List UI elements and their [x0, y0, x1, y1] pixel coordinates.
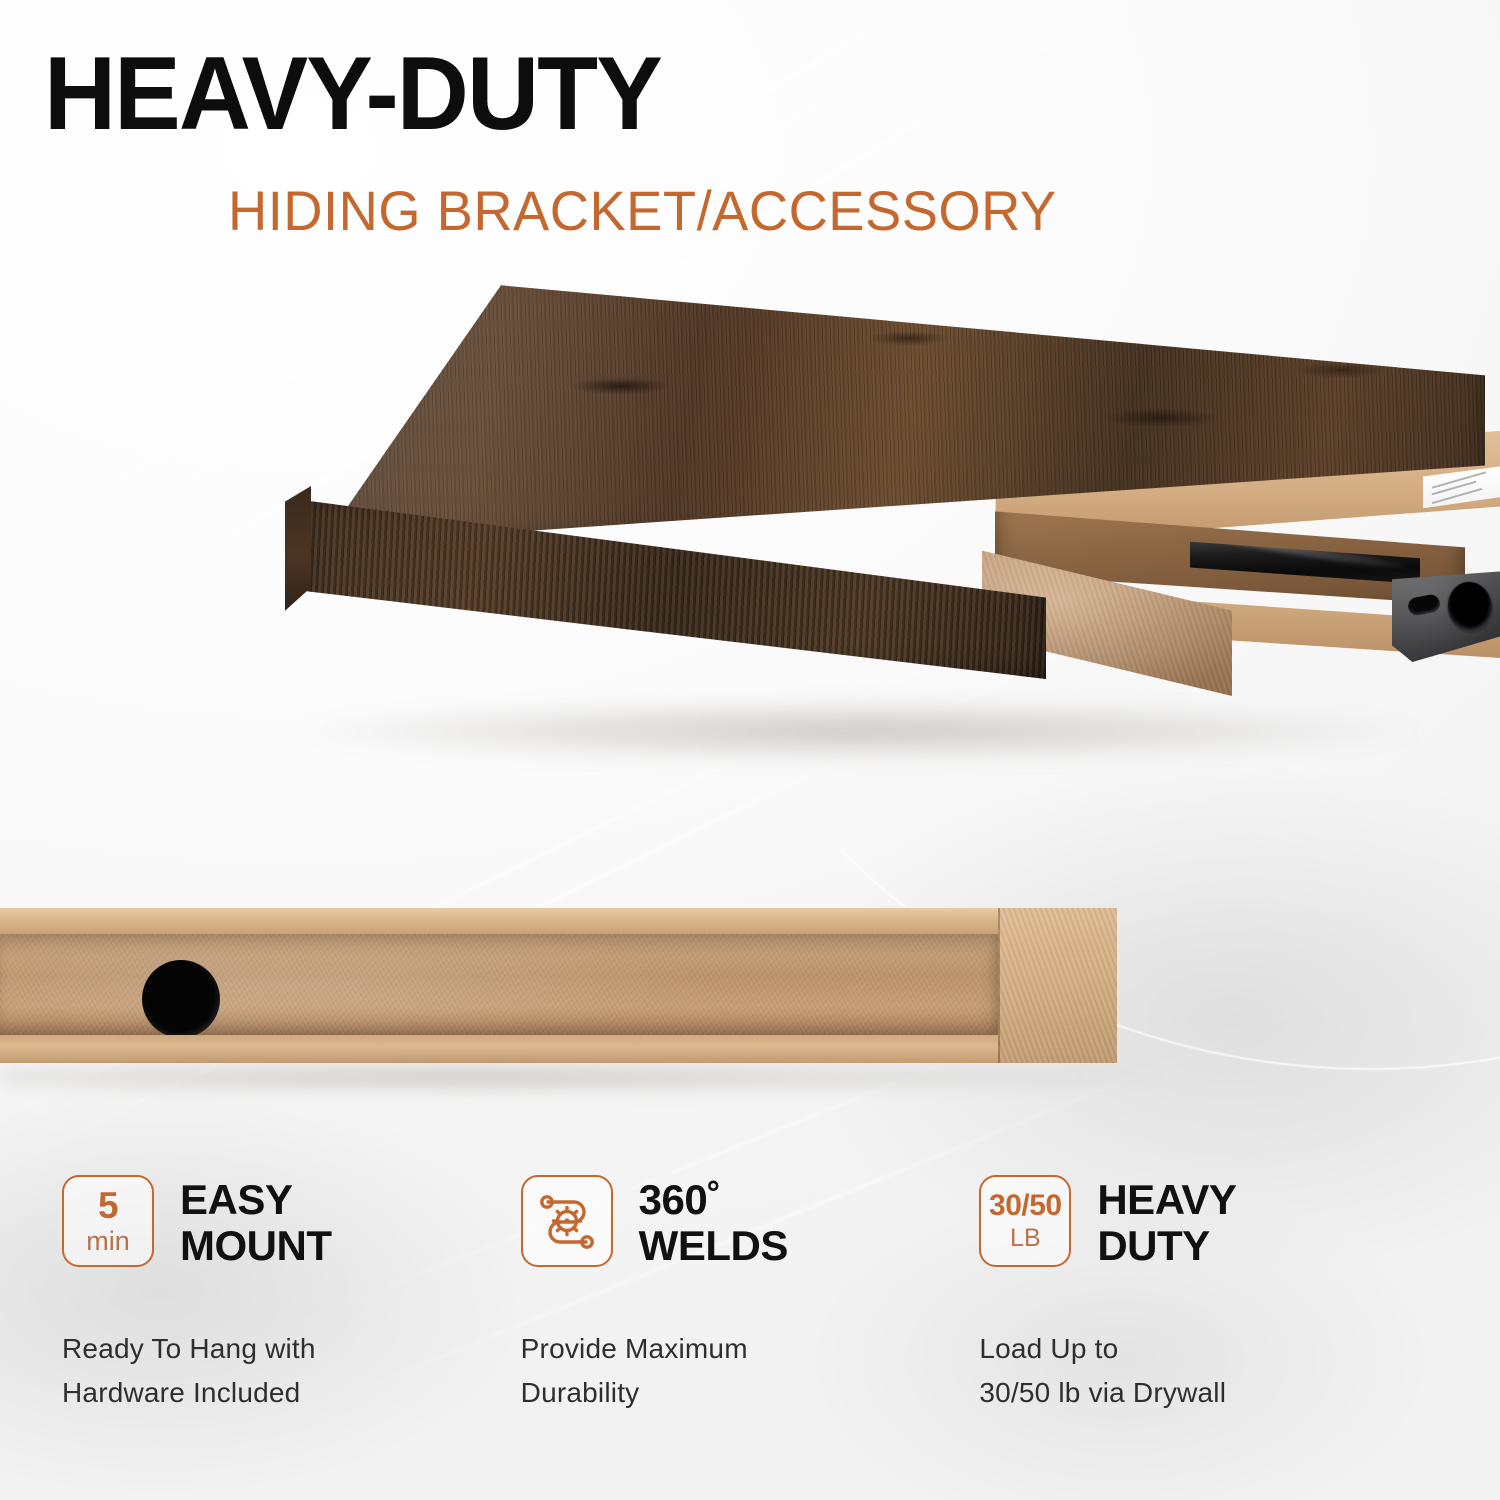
cross-section-contact-shadow: [0, 1058, 1160, 1096]
channel-end-cap: [998, 908, 1117, 1063]
badge-unit: LB: [1010, 1226, 1041, 1251]
weld-path-gear-icon: [521, 1175, 613, 1267]
hidden-mounting-bracket: [1190, 520, 1500, 680]
hero-product-image: [0, 270, 1500, 870]
shelf-front-edge: [298, 494, 1046, 679]
feature-title: EASY MOUNT: [180, 1175, 331, 1269]
weld-path-gear-glyph: [536, 1190, 598, 1252]
feature-header: 360˚ WELDS: [521, 1175, 980, 1269]
feature-title: 360˚ WELDS: [639, 1175, 788, 1269]
feature-description: Ready To Hang with Hardware Included: [62, 1327, 521, 1414]
floating-shelf: [285, 280, 1500, 800]
bracket-rod: [1190, 538, 1420, 584]
feature-easy-mount: 5 min EASY MOUNT Ready To Hang with Hard…: [62, 1175, 521, 1475]
mdf-channel-body: [0, 908, 1117, 1063]
feature-description: Load Up to 30/50 lb via Drywall: [979, 1327, 1438, 1414]
badge-unit: min: [86, 1228, 130, 1255]
page-subtitle: HIDING BRACKET/ACCESSORY: [228, 183, 1057, 239]
feature-360-welds: 360˚ WELDS Provide Maximum Durability: [521, 1175, 980, 1475]
feature-header: 5 min EASY MOUNT: [62, 1175, 521, 1269]
feature-description: Provide Maximum Durability: [521, 1327, 980, 1414]
weight-capacity-badge-icon: 30/50 LB: [979, 1175, 1071, 1267]
feature-list: 5 min EASY MOUNT Ready To Hang with Hard…: [0, 1175, 1500, 1475]
feature-title: HEAVY DUTY: [1097, 1175, 1236, 1269]
shelf-cross-section-image: [0, 898, 1500, 1083]
shelf-left-end-cap: [285, 486, 311, 616]
timer-badge-icon: 5 min: [62, 1175, 154, 1267]
feature-header: 30/50 LB HEAVY DUTY: [979, 1175, 1438, 1269]
page-title: HEAVY-DUTY: [44, 42, 661, 146]
feature-heavy-duty: 30/50 LB HEAVY DUTY Load Up to 30/50 lb …: [979, 1175, 1438, 1475]
badge-value: 5: [98, 1187, 118, 1224]
channel-top-rail: [0, 908, 1117, 934]
bracket-rod-hole: [142, 960, 220, 1038]
badge-value: 30/50: [989, 1191, 1062, 1221]
